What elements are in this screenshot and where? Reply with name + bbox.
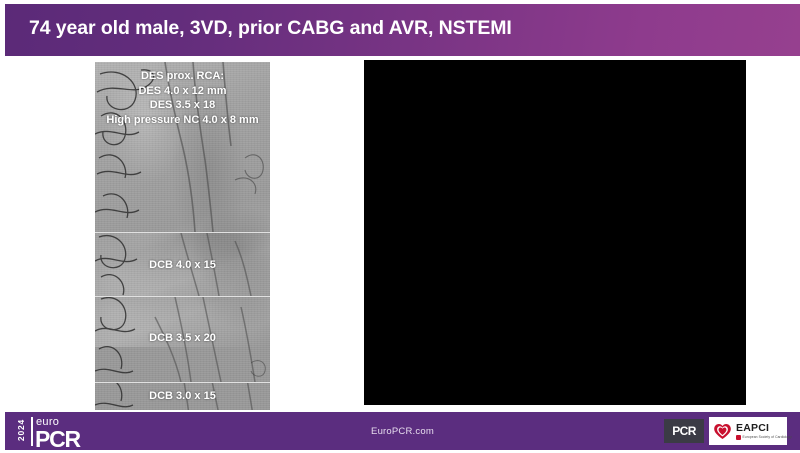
angiogram-tile-dcb-4-0: DCB 4.0 x 15 [95,233,270,296]
angiogram-tile-label-dcb-3-0: DCB 3.0 x 15 [95,389,270,404]
angiogram-tile-proximal-rca: DES prox. RCA: DES 4.0 x 12 mm DES 3.5 x… [95,62,270,232]
angiogram-image-panel: DES prox. RCA: DES 4.0 x 12 mm DES 3.5 x… [95,62,270,410]
eapci-text-block: EAPCI European Society of Cardiology [736,423,792,440]
europcr-logo-pcr-text: PCR [35,426,80,453]
angiogram-tile-label-dcb-3-5: DCB 3.5 x 20 [95,331,270,346]
angiogram-tile-label-dcb-4-0: DCB 4.0 x 15 [95,258,270,273]
heart-icon [713,422,732,441]
angiogram-tile-dcb-3-0: DCB 3.0 x 15 [95,383,270,410]
presentation-slide: 74 year old male, 3VD, prior CABG and AV… [0,0,800,450]
eapci-subtitle: European Society of Cardiology [743,435,792,439]
esc-mark-icon [736,435,741,440]
slide-header-bar: 74 year old male, 3VD, prior CABG and AV… [5,4,800,56]
eapci-logo: EAPCI European Society of Cardiology [709,417,787,445]
europcr-logo: 2024 euro PCR [14,415,106,448]
pcr-brand-mark: PCR [664,419,704,443]
angiography-video-placeholder[interactable] [364,60,746,405]
europcr-logo-divider [31,417,33,446]
europcr-logo-year: 2024 [16,414,26,446]
eapci-subtitle-row: European Society of Cardiology [736,435,792,440]
pcr-brand-mark-text: PCR [672,424,696,438]
eapci-name: EAPCI [736,423,792,434]
angiogram-tile-dcb-3-5: DCB 3.5 x 20 [95,297,270,382]
angiogram-tile-label-proximal-rca: DES prox. RCA: DES 4.0 x 12 mm DES 3.5 x… [95,69,270,127]
slide-title: 74 year old male, 3VD, prior CABG and AV… [29,17,512,40]
